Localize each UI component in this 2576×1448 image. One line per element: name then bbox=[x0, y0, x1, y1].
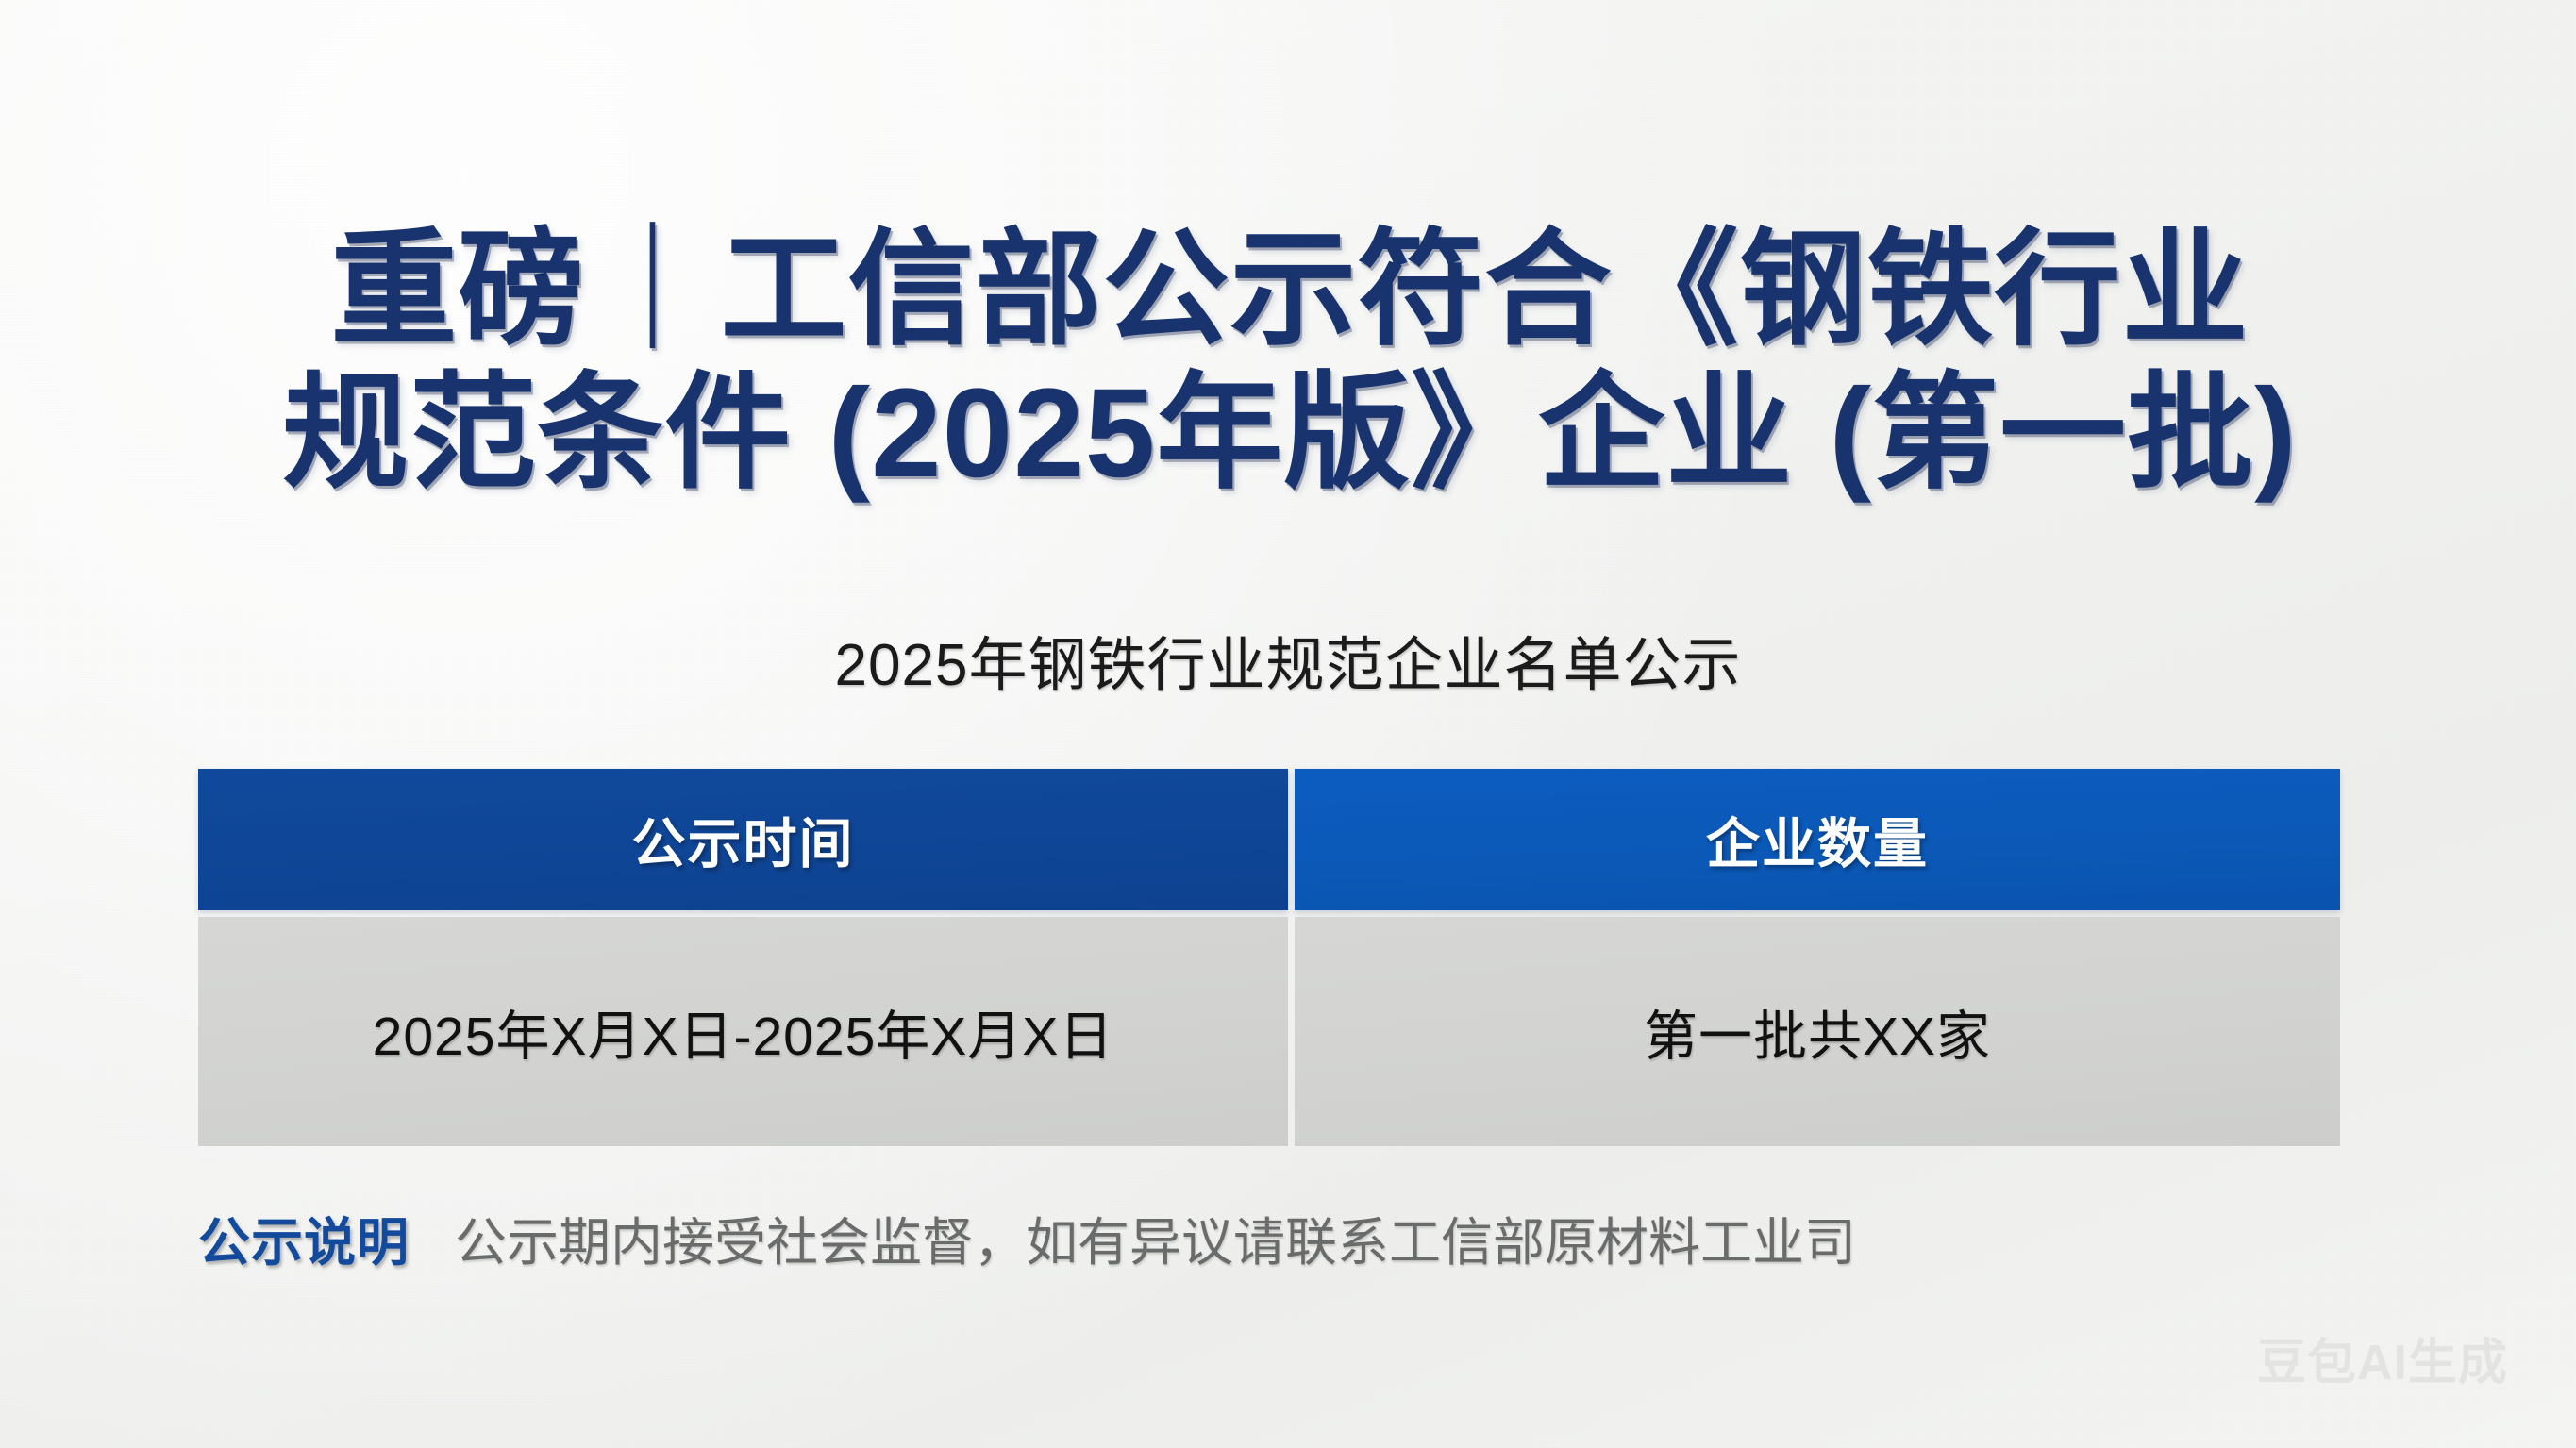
table-cell-publicity-time: 2025年X月X日-2025年X月X日 bbox=[198, 917, 1288, 1146]
publicity-note-text: 公示期内接受社会监督，如有异议请联系工信部原材料工业司 bbox=[455, 1200, 1856, 1275]
table-row: 2025年X月X日-2025年X月X日 第一批共XX家 bbox=[198, 917, 2340, 1146]
table-cell-enterprise-count: 第一批共XX家 bbox=[1295, 917, 2340, 1146]
page-title: 重磅｜工信部公示符合《钢铁行业 规范条件 (2025年版》企业 (第一批) bbox=[0, 219, 2576, 506]
title-headline-tag: 重磅 bbox=[330, 220, 585, 360]
poster-canvas: 重磅｜工信部公示符合《钢铁行业 规范条件 (2025年版》企业 (第一批) 20… bbox=[0, 0, 2576, 1448]
title-line-1: 重磅｜工信部公示符合《钢铁行业 bbox=[0, 219, 2576, 362]
ai-watermark: 豆包AI生成 bbox=[2257, 1323, 2508, 1393]
page-subtitle: 2025年钢铁行业规范企业名单公示 bbox=[0, 630, 2576, 702]
title-separator-bar: ｜ bbox=[585, 219, 720, 362]
info-table: 公示时间 企业数量 2025年X月X日-2025年X月X日 第一批共XX家 bbox=[198, 769, 2340, 1146]
publicity-note-label: 公示说明 bbox=[198, 1200, 410, 1275]
table-header-publicity-time: 公示时间 bbox=[198, 769, 1288, 910]
title-line-2: 规范条件 (2025年版》企业 (第一批) bbox=[0, 362, 2576, 506]
publicity-note: 公示说明 公示期内接受社会监督，如有异议请联系工信部原材料工业司 bbox=[198, 1200, 1856, 1275]
title-headline-main: 工信部公示符合《钢铁行业 bbox=[721, 220, 2250, 360]
table-header-row: 公示时间 企业数量 bbox=[198, 769, 2340, 910]
table-header-enterprise-count: 企业数量 bbox=[1295, 769, 2340, 910]
